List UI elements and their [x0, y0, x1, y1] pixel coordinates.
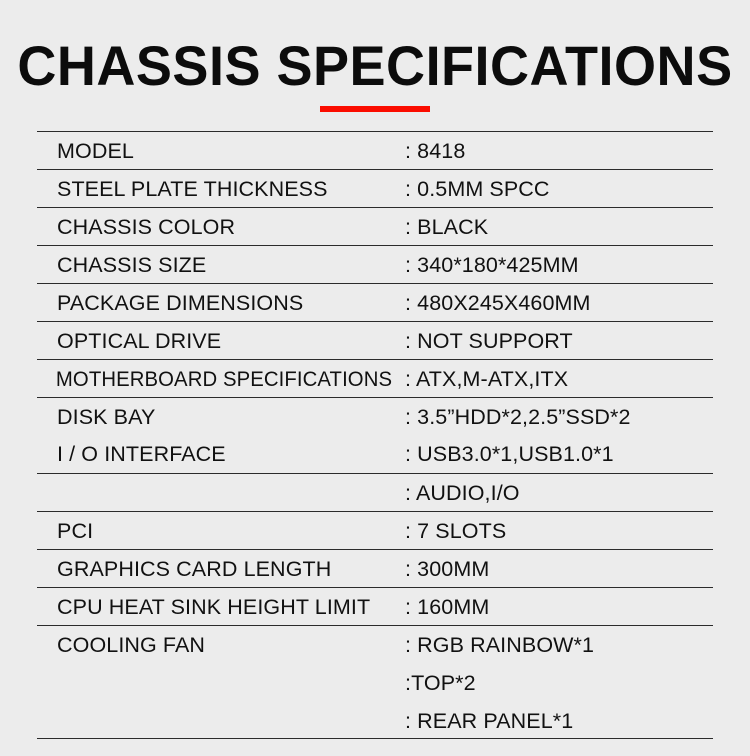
table-row: MODEL : 8418 [37, 131, 713, 169]
spec-label: I / O INTERFACE [37, 435, 405, 473]
table-row: MOTHERBOARD SPECIFICATIONS : ATX,M-ATX,I… [37, 359, 713, 397]
spec-label: COOLING FAN [37, 626, 405, 664]
spec-value: : 7 SLOTS [405, 512, 713, 550]
spec-value: : 160MM [405, 588, 713, 626]
table-row: CPU HEAT SINK HEIGHT LIMIT : 160MM [37, 587, 713, 625]
spec-value-line: : RGB RAINBOW*1 [405, 626, 713, 664]
spec-label: OPTICAL DRIVE [37, 322, 405, 360]
spec-label: GRAPHICS CARD LENGTH [37, 550, 405, 588]
spec-value: : RGB RAINBOW*1 :TOP*2 : REAR PANEL*1 [405, 626, 713, 740]
spec-value: : NOT SUPPORT [405, 322, 713, 360]
spec-value-line: :TOP*2 [405, 664, 713, 702]
spec-value-line: : REAR PANEL*1 [405, 702, 713, 740]
title-block: CHASSIS SPECIFICATIONS [0, 0, 750, 125]
spec-label: CPU HEAT SINK HEIGHT LIMIT [37, 588, 405, 626]
spec-value: : 8418 [405, 132, 713, 170]
spec-label: CHASSIS COLOR [37, 208, 405, 246]
spec-value: : 3.5”HDD*2,2.5”SSD*2 [405, 398, 713, 436]
spec-sheet-page: CHASSIS SPECIFICATIONS MODEL : 8418 STEE… [0, 0, 750, 756]
spec-value: : 340*180*425MM [405, 246, 713, 284]
title-accent-bar [320, 106, 430, 112]
table-row: PCI : 7 SLOTS [37, 511, 713, 549]
table-row: STEEL PLATE THICKNESS : 0.5MM SPCC [37, 169, 713, 207]
table-row: OPTICAL DRIVE : NOT SUPPORT [37, 321, 713, 359]
table-row: COOLING FAN : RGB RAINBOW*1 :TOP*2 : REA… [37, 625, 713, 738]
table-row: : AUDIO,I/O [37, 473, 713, 511]
spec-label: MODEL [37, 132, 405, 170]
table-row: I / O INTERFACE : USB3.0*1,USB1.0*1 [37, 435, 713, 473]
table-row: CHASSIS COLOR : BLACK [37, 207, 713, 245]
spec-value: : 300MM [405, 550, 713, 588]
spec-value: : 480X245X460MM [405, 284, 713, 322]
table-row: DISK BAY : 3.5”HDD*2,2.5”SSD*2 [37, 397, 713, 435]
page-title: CHASSIS SPECIFICATIONS [13, 36, 737, 96]
spec-value: : USB3.0*1,USB1.0*1 [405, 435, 713, 473]
table-row: PACKAGE DIMENSIONS : 480X245X460MM [37, 283, 713, 321]
specifications-table: MODEL : 8418 STEEL PLATE THICKNESS : 0.5… [37, 131, 713, 739]
spec-label: CHASSIS SIZE [37, 246, 405, 284]
spec-value: : BLACK [405, 208, 713, 246]
spec-label: STEEL PLATE THICKNESS [37, 170, 405, 208]
table-row: GRAPHICS CARD LENGTH : 300MM [37, 549, 713, 587]
spec-label: DISK BAY [37, 398, 405, 436]
spec-value: : ATX,M-ATX,ITX [405, 360, 713, 398]
spec-label: MOTHERBOARD SPECIFICATIONS [37, 360, 385, 398]
spec-label: PACKAGE DIMENSIONS [37, 284, 405, 322]
spec-value: : 0.5MM SPCC [405, 170, 713, 208]
spec-value: : AUDIO,I/O [405, 474, 713, 512]
spec-label: PCI [37, 512, 405, 550]
table-row: CHASSIS SIZE : 340*180*425MM [37, 245, 713, 283]
table-bottom-rule [37, 738, 713, 739]
